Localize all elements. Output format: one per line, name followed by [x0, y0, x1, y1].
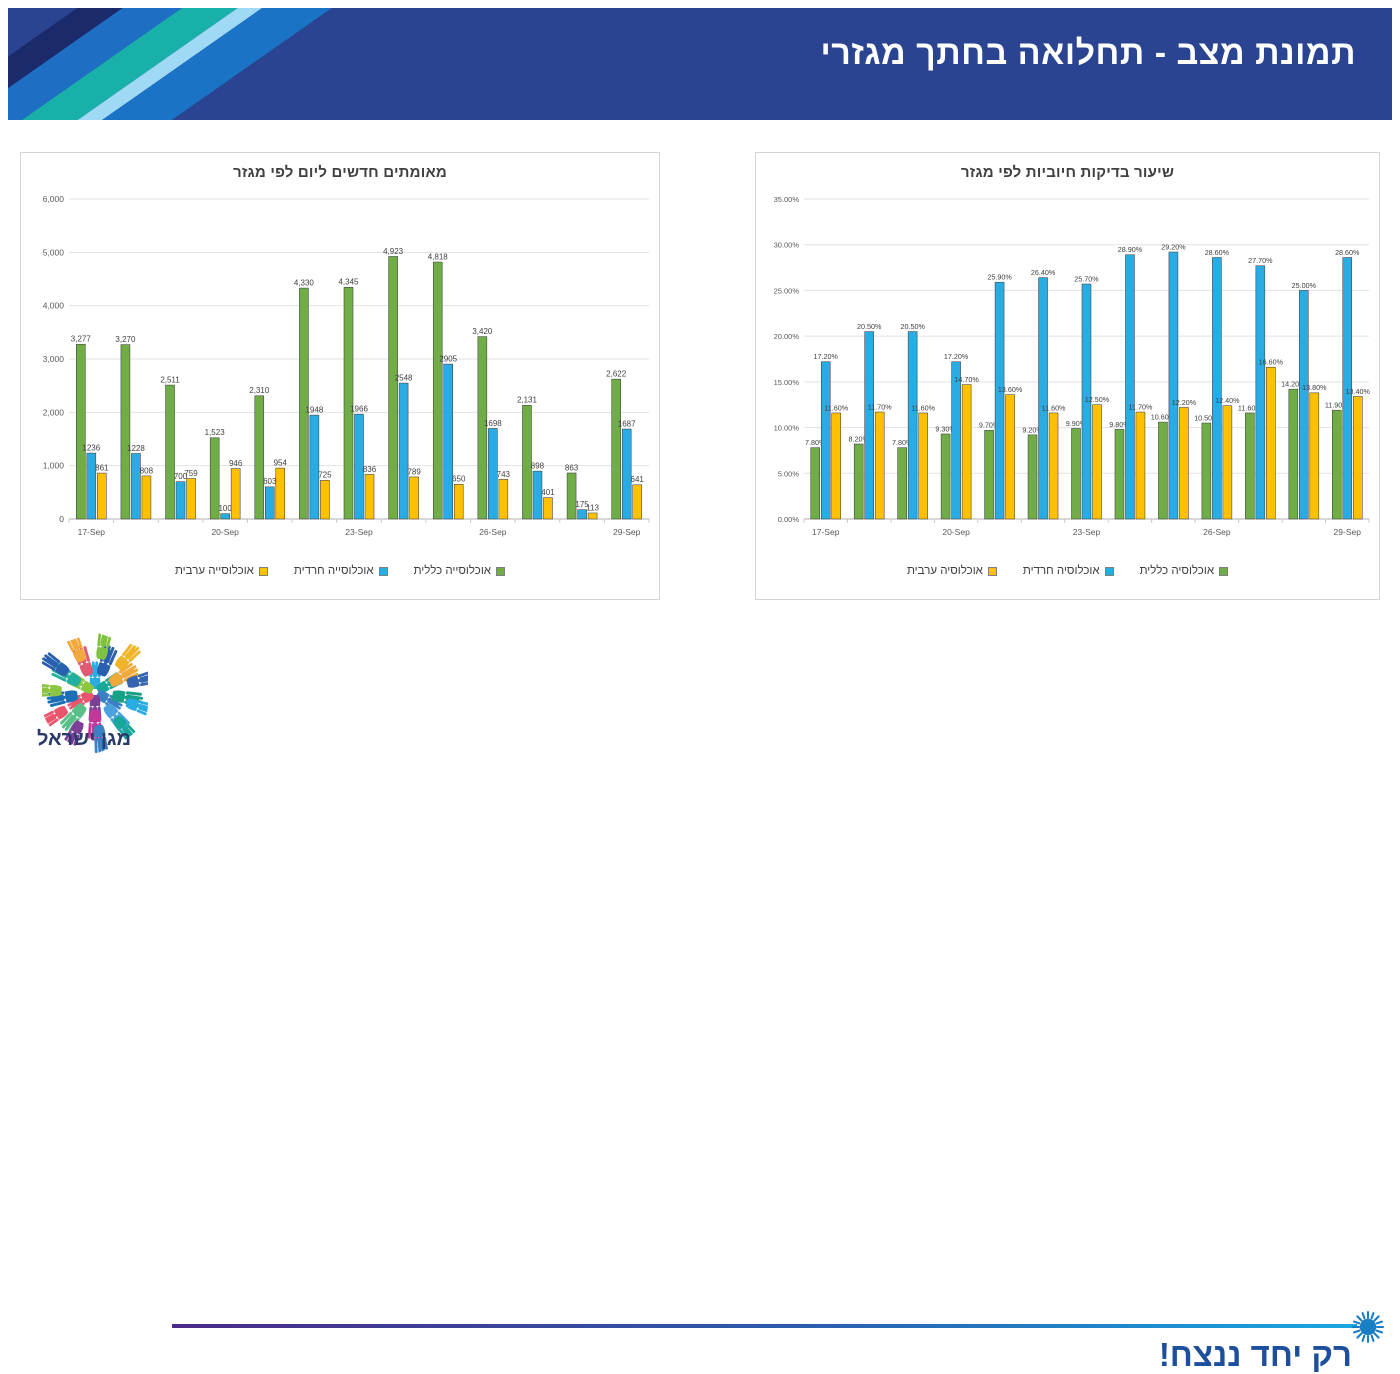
legend-swatch-arab — [988, 567, 997, 576]
svg-text:2,511: 2,511 — [160, 375, 180, 384]
legend-swatch-general — [1219, 567, 1228, 576]
svg-text:11.60%: 11.60% — [911, 403, 935, 412]
svg-text:11.60%: 11.60% — [824, 403, 848, 412]
svg-text:954: 954 — [274, 459, 288, 468]
legend-label-arab: אוכלוסייה ערבית — [175, 565, 254, 577]
svg-text:863: 863 — [565, 463, 579, 472]
svg-text:17-Sep: 17-Sep — [78, 527, 106, 537]
legend-swatch-haredi — [1105, 567, 1114, 576]
slide-footer: מגן ישראל — [0, 608, 1400, 790]
legend-item: אוכלוסיה כללית — [1140, 565, 1228, 577]
svg-text:12.50%: 12.50% — [1085, 395, 1110, 404]
svg-text:15.00%: 15.00% — [774, 378, 800, 387]
svg-text:5,000: 5,000 — [43, 247, 65, 257]
svg-text:100: 100 — [218, 504, 232, 513]
svg-text:1698: 1698 — [484, 419, 502, 428]
chart-plot-right: 0.00%5.00%10.00%15.00%20.00%25.00%30.00%… — [756, 181, 1379, 559]
svg-text:28.60%: 28.60% — [1205, 248, 1230, 257]
svg-text:11.70%: 11.70% — [868, 402, 892, 411]
slide: תמונת מצב - תחלואה בחתך מגזרי מאומתים חד… — [0, 0, 1400, 790]
svg-text:35.00%: 35.00% — [774, 195, 800, 204]
svg-text:2,310: 2,310 — [249, 386, 270, 395]
svg-text:743: 743 — [497, 470, 511, 479]
svg-text:6,000: 6,000 — [43, 194, 65, 204]
svg-text:789: 789 — [407, 467, 421, 476]
legend-label-general: אוכלוסייה כללית — [414, 565, 491, 577]
header-decorative-stripes — [8, 8, 528, 120]
svg-text:1228: 1228 — [127, 444, 145, 453]
svg-text:4,923: 4,923 — [383, 247, 404, 256]
legend-swatch-haredi — [379, 567, 388, 576]
svg-text:16.60%: 16.60% — [1259, 358, 1284, 367]
svg-text:603: 603 — [263, 477, 277, 486]
svg-text:25.00%: 25.00% — [1292, 281, 1317, 290]
slide-header: תמונת מצב - תחלואה בחתך מגזרי — [8, 8, 1392, 120]
chart-panel-new-cases: מאומתים חדשים ליום לפי מגזר 01,0002,0003… — [20, 152, 660, 600]
svg-text:0: 0 — [59, 514, 64, 524]
svg-text:1948: 1948 — [305, 406, 323, 415]
svg-text:1,000: 1,000 — [43, 461, 65, 471]
svg-text:3,277: 3,277 — [71, 335, 92, 344]
svg-text:26.40%: 26.40% — [1031, 268, 1056, 277]
svg-text:650: 650 — [452, 475, 466, 484]
svg-text:2,131: 2,131 — [517, 396, 538, 405]
legend-item: אוכלוסייה ערבית — [175, 565, 268, 577]
svg-text:17-Sep: 17-Sep — [812, 527, 840, 537]
svg-text:113: 113 — [586, 503, 599, 512]
svg-text:861: 861 — [95, 463, 109, 472]
svg-text:3,000: 3,000 — [43, 354, 65, 364]
bar-chart-new-cases: 01,0002,0003,0004,0005,0006,0003,2771236… — [21, 181, 659, 559]
legend-label-haredi: אוכלוסיה חרדית — [1023, 565, 1100, 577]
svg-text:946: 946 — [229, 459, 243, 468]
svg-text:25.00%: 25.00% — [774, 286, 800, 295]
svg-text:836: 836 — [363, 465, 377, 474]
svg-text:3,420: 3,420 — [472, 327, 493, 336]
svg-text:2,622: 2,622 — [606, 370, 627, 379]
legend-label-arab: אוכלוסיה ערבית — [907, 565, 983, 577]
svg-text:20-Sep: 20-Sep — [211, 527, 239, 537]
footer-slogan: רק יחד ננצח! — [1159, 1336, 1352, 1374]
svg-text:20.00%: 20.00% — [774, 332, 800, 341]
chart-panel-positivity-rate: שיעור בדיקות חיוביות לפי מגזר 0.00%5.00%… — [755, 152, 1380, 600]
footer-divider-line — [172, 1324, 1357, 1328]
legend-swatch-general — [496, 567, 505, 576]
svg-text:1687: 1687 — [618, 419, 636, 428]
svg-text:11.60%: 11.60% — [1042, 403, 1066, 412]
svg-text:1236: 1236 — [82, 443, 100, 452]
svg-text:401: 401 — [541, 488, 555, 497]
svg-text:20-Sep: 20-Sep — [942, 527, 970, 537]
svg-text:759: 759 — [184, 469, 198, 478]
svg-text:27.70%: 27.70% — [1248, 256, 1273, 265]
legend-item: אוכלוסייה חרדית — [294, 565, 388, 577]
svg-text:1,523: 1,523 — [205, 428, 226, 437]
svg-text:5.00%: 5.00% — [778, 469, 800, 478]
svg-text:0.00%: 0.00% — [778, 515, 800, 524]
legend-label-general: אוכלוסיה כללית — [1140, 565, 1214, 577]
svg-text:30.00%: 30.00% — [774, 241, 800, 250]
svg-text:23-Sep: 23-Sep — [1073, 527, 1101, 537]
svg-text:3,270: 3,270 — [115, 335, 136, 344]
svg-text:26-Sep: 26-Sep — [1203, 527, 1231, 537]
svg-text:4,330: 4,330 — [294, 278, 315, 287]
svg-text:25.70%: 25.70% — [1074, 274, 1099, 283]
svg-text:641: 641 — [631, 475, 645, 484]
svg-text:4,345: 4,345 — [338, 278, 359, 287]
svg-text:2905: 2905 — [439, 354, 457, 363]
svg-text:13.80%: 13.80% — [1302, 383, 1327, 392]
svg-text:808: 808 — [140, 466, 154, 475]
svg-text:12.40%: 12.40% — [1215, 396, 1240, 405]
svg-text:1966: 1966 — [350, 405, 368, 414]
svg-text:29.20%: 29.20% — [1161, 242, 1186, 251]
svg-text:725: 725 — [318, 471, 332, 480]
svg-text:26-Sep: 26-Sep — [479, 527, 507, 537]
virus-icon — [1351, 1310, 1385, 1344]
chart-legend-right: אוכלוסיה כללית אוכלוסיה חרדית אוכלוסיה ע… — [756, 561, 1379, 577]
svg-text:4,000: 4,000 — [43, 301, 65, 311]
svg-text:11.70%: 11.70% — [1129, 402, 1153, 411]
svg-text:10.00%: 10.00% — [774, 424, 800, 433]
svg-text:17.20%: 17.20% — [814, 352, 839, 361]
chart-plot-left: 01,0002,0003,0004,0005,0006,0003,2771236… — [21, 181, 659, 559]
svg-text:28.60%: 28.60% — [1335, 248, 1360, 257]
svg-text:4,818: 4,818 — [428, 252, 449, 261]
legend-label-haredi: אוכלוסייה חרדית — [294, 565, 374, 577]
svg-text:25.90%: 25.90% — [987, 273, 1012, 282]
chart-legend-left: אוכלוסייה כללית אוכלוסייה חרדית אוכלוסיי… — [21, 561, 659, 577]
legend-item: אוכלוסייה כללית — [414, 565, 505, 577]
svg-text:898: 898 — [531, 462, 545, 471]
chart-title-right: שיעור בדיקות חיוביות לפי מגזר — [756, 153, 1379, 181]
svg-text:28.90%: 28.90% — [1118, 245, 1143, 254]
svg-text:29-Sep: 29-Sep — [613, 527, 641, 537]
svg-text:20.50%: 20.50% — [857, 322, 882, 331]
page-title: תמונת מצב - תחלואה בחתך מגזרי — [820, 34, 1356, 73]
svg-text:23-Sep: 23-Sep — [345, 527, 373, 537]
chart-title-left: מאומתים חדשים ליום לפי מגזר — [21, 153, 659, 181]
legend-swatch-arab — [259, 567, 268, 576]
svg-text:17.20%: 17.20% — [944, 352, 969, 361]
magen-israel-logo — [30, 626, 160, 776]
legend-item: אוכלוסיה חרדית — [1023, 565, 1114, 577]
logo-caption: מגן ישראל — [14, 728, 154, 751]
legend-item: אוכלוסיה ערבית — [907, 565, 997, 577]
svg-text:12.20%: 12.20% — [1172, 398, 1197, 407]
svg-text:20.50%: 20.50% — [900, 322, 925, 331]
svg-text:2548: 2548 — [395, 374, 413, 383]
svg-text:13.40%: 13.40% — [1346, 387, 1371, 396]
svg-text:13.60%: 13.60% — [998, 385, 1023, 394]
svg-text:2,000: 2,000 — [43, 407, 65, 417]
svg-text:14.70%: 14.70% — [954, 375, 979, 384]
bar-chart-positivity-rate: 0.00%5.00%10.00%15.00%20.00%25.00%30.00%… — [756, 181, 1379, 559]
svg-text:29-Sep: 29-Sep — [1334, 527, 1362, 537]
